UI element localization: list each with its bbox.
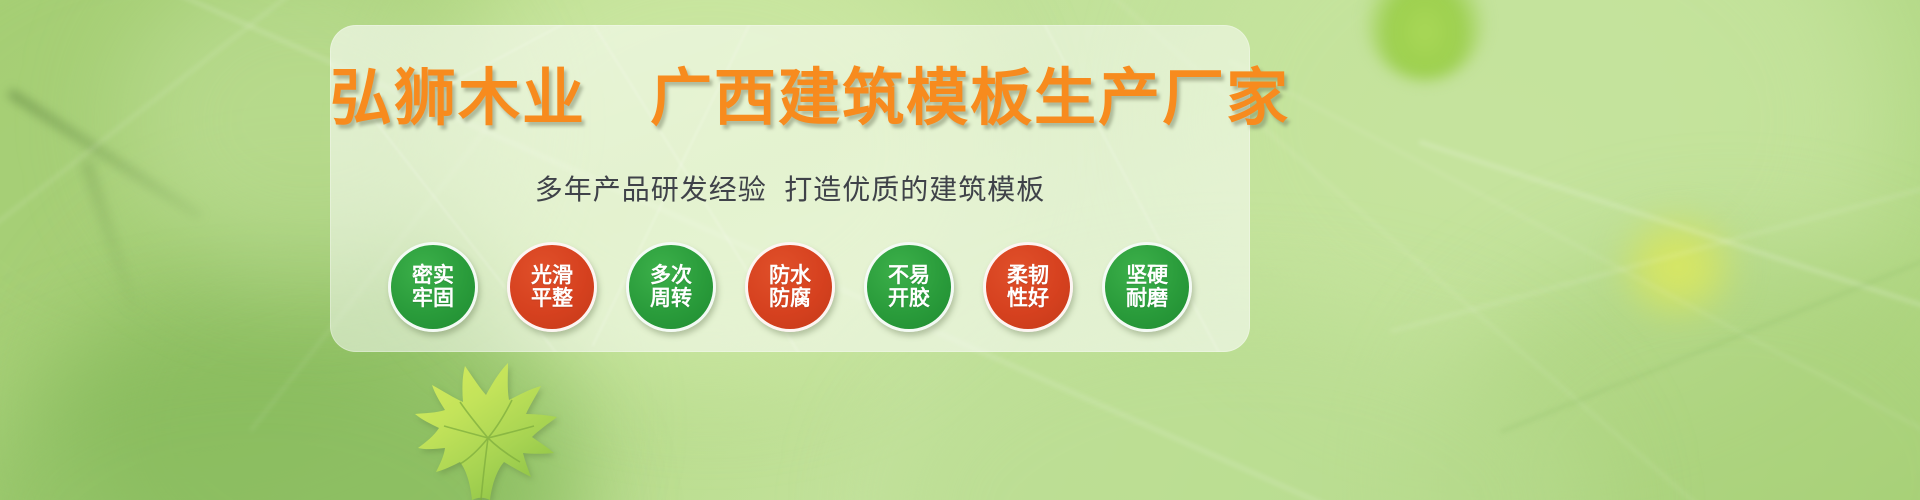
badge-line-1: 坚硬 <box>1126 264 1168 287</box>
badge-line-2: 耐磨 <box>1126 287 1168 310</box>
page-subtitle: 多年产品研发经验 打造优质的建筑模板 <box>330 170 1250 210</box>
badge-line-1: 柔韧 <box>1007 264 1049 287</box>
badge-line-1: 密实 <box>412 264 454 287</box>
page-title: 弘狮木业 广西建筑模板生产厂家 <box>330 62 1250 136</box>
feature-badge-row: 密实 牢固 光滑 平整 多次 周转 防水 防腐 不易 开胶 柔韧 性好 坚硬 耐… <box>330 232 1250 342</box>
badge-line-2: 防腐 <box>769 287 811 310</box>
badge-line-2: 周转 <box>650 287 692 310</box>
maple-leaf-icon <box>400 350 580 500</box>
feature-badge[interactable]: 密实 牢固 <box>388 242 478 332</box>
feature-badge[interactable]: 柔韧 性好 <box>983 242 1073 332</box>
badge-line-2: 平整 <box>531 287 573 310</box>
feature-badge[interactable]: 坚硬 耐磨 <box>1102 242 1192 332</box>
badge-line-1: 防水 <box>769 264 811 287</box>
badge-line-2: 开胶 <box>888 287 930 310</box>
feature-badge[interactable]: 防水 防腐 <box>745 242 835 332</box>
badge-line-1: 多次 <box>650 264 692 287</box>
feature-badge[interactable]: 多次 周转 <box>626 242 716 332</box>
feature-badge[interactable]: 光滑 平整 <box>507 242 597 332</box>
feature-badge[interactable]: 不易 开胶 <box>864 242 954 332</box>
promo-banner: 弘狮木业 广西建筑模板生产厂家 多年产品研发经验 打造优质的建筑模板 密实 牢固… <box>0 0 1920 500</box>
badge-line-1: 不易 <box>888 264 930 287</box>
badge-line-2: 牢固 <box>412 287 454 310</box>
badge-line-1: 光滑 <box>531 264 573 287</box>
badge-line-2: 性好 <box>1007 287 1049 310</box>
bokeh-highlight <box>1620 215 1740 323</box>
